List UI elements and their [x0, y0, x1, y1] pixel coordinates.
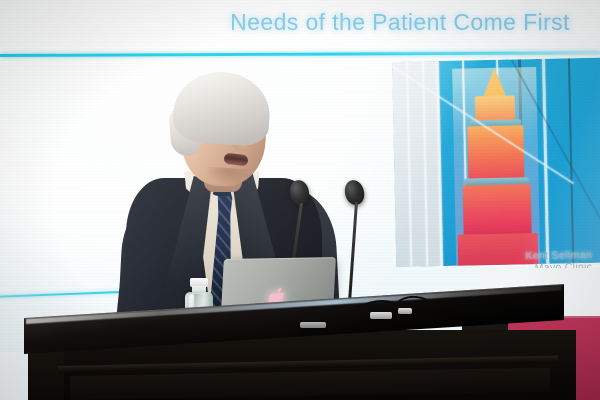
desk-object — [300, 322, 326, 328]
podium-left-step — [28, 348, 64, 400]
desk-object — [398, 308, 412, 314]
presentation-photo: Needs of the Patient Come First — [0, 0, 600, 400]
desk-object — [370, 312, 392, 319]
